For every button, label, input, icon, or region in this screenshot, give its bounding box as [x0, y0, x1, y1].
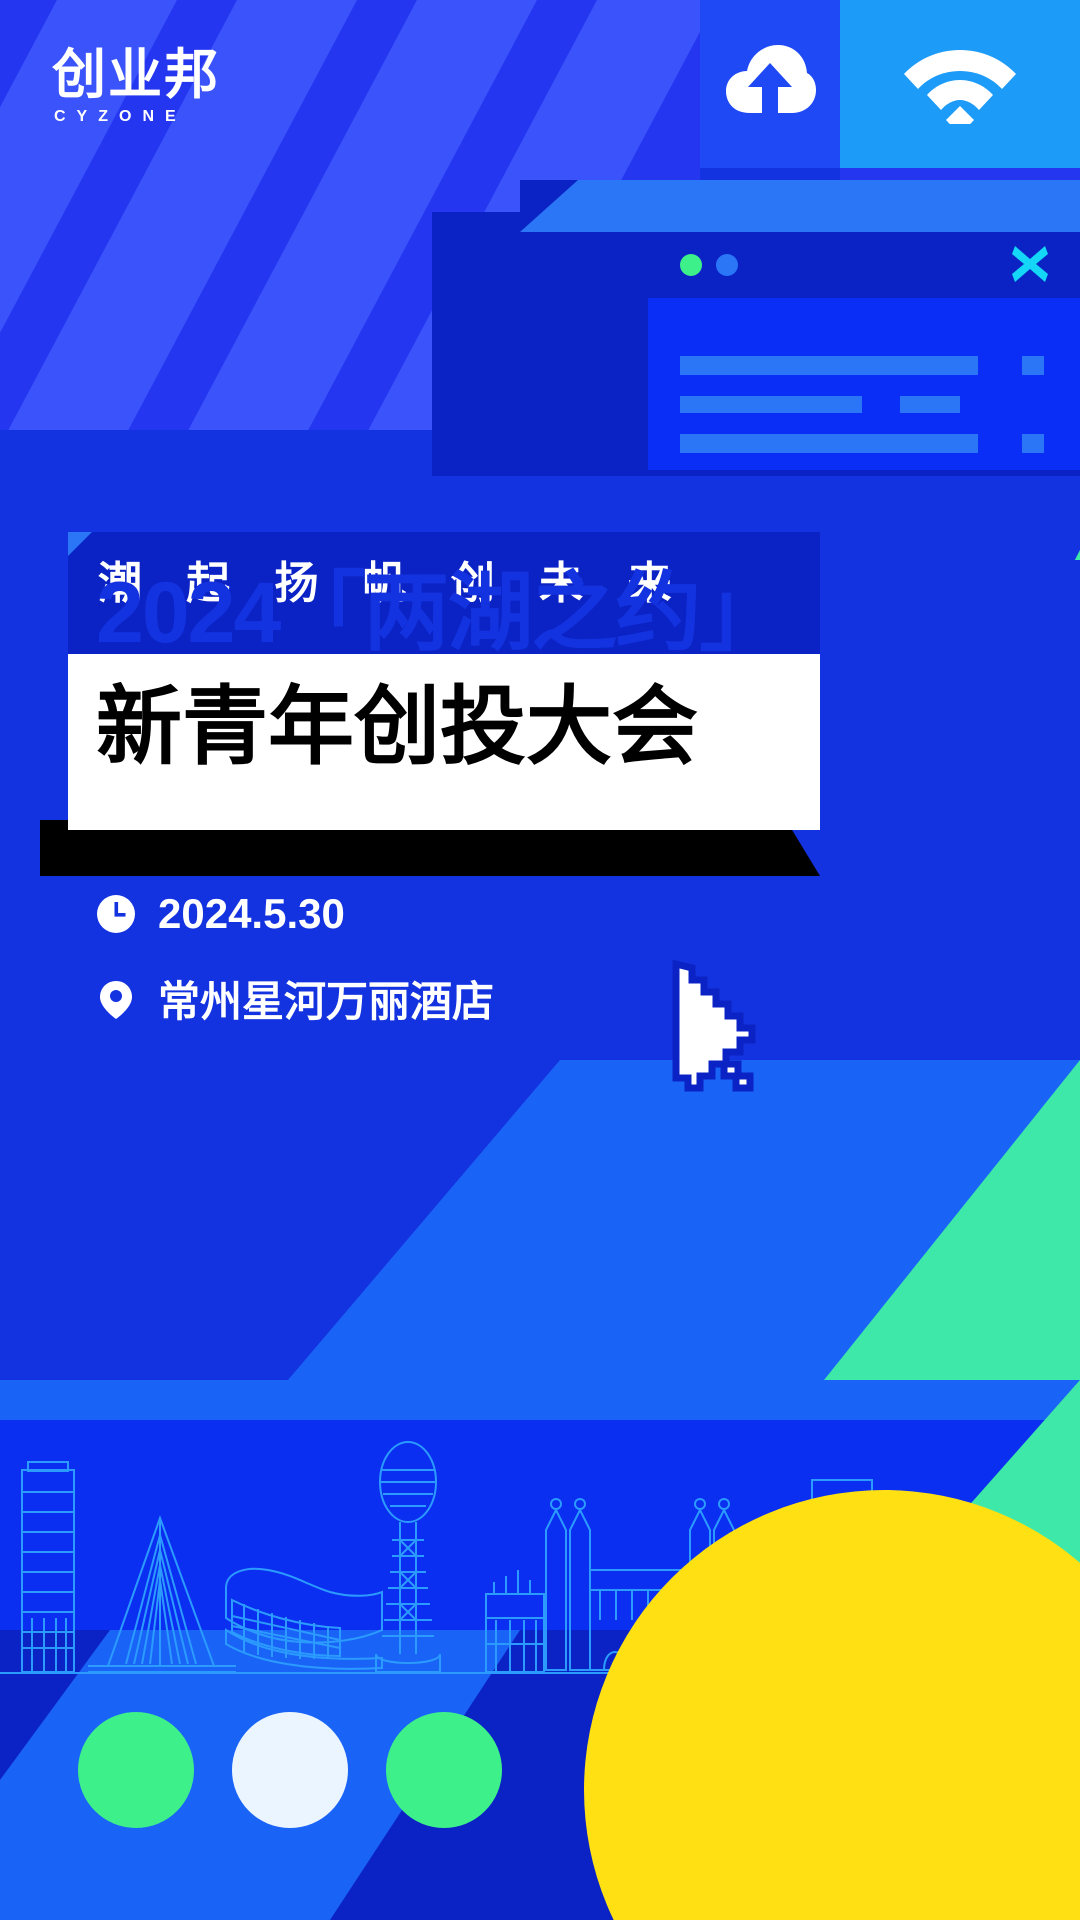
window-content: [648, 298, 1080, 470]
content-line-3: [680, 434, 978, 453]
brand-logo-en: CYZONE: [54, 108, 220, 126]
skyline-tower-left: [22, 1462, 74, 1672]
header: 创业邦 CYZONE: [0, 0, 1080, 168]
event-date-text: 2024.5.30: [158, 890, 345, 938]
headline-line-1: 2024「两湖之约」: [96, 570, 783, 656]
content-line-2b: [900, 396, 960, 413]
skyline-bridge: [88, 1518, 236, 1672]
window-top-strip: [520, 180, 1080, 232]
circle-green-left: [78, 1712, 194, 1828]
headline-line-2: 新青年创投大会: [96, 684, 698, 770]
wifi-icon: [902, 40, 1018, 129]
wifi-cell[interactable]: [840, 0, 1080, 168]
brand-logo: 创业邦 CYZONE: [52, 48, 220, 126]
content-line-3b: [1022, 434, 1044, 453]
location-pin-icon: [96, 979, 136, 1019]
poster-root: 创业邦 CYZONE: [0, 0, 1080, 1920]
content-line-1b: [1022, 356, 1044, 375]
skyline-stadium: [226, 1569, 382, 1669]
cloud-upload-cell[interactable]: [700, 0, 840, 168]
window-dot-green[interactable]: [680, 254, 702, 276]
event-venue-row: 常州星河万丽酒店: [96, 968, 494, 1029]
cloud-upload-icon: [724, 43, 816, 126]
window-dot-blue[interactable]: [716, 254, 738, 276]
circle-white-middle: [232, 1712, 348, 1828]
event-venue-text: 常州星河万丽酒店: [158, 968, 494, 1029]
content-line-1: [680, 356, 978, 375]
skyline-tv-tower: [376, 1442, 440, 1672]
clock-icon: [96, 894, 136, 934]
window-title-bar: [520, 232, 1080, 298]
browser-window: [520, 180, 1080, 470]
circle-green-right: [386, 1712, 502, 1828]
content-line-2: [680, 396, 862, 413]
brand-logo-cn: 创业邦: [52, 48, 220, 102]
mouse-cursor-icon: [668, 960, 768, 1105]
event-date-row: 2024.5.30: [96, 890, 345, 938]
close-icon[interactable]: [1010, 244, 1050, 284]
tagline-band-notch: [68, 532, 92, 556]
